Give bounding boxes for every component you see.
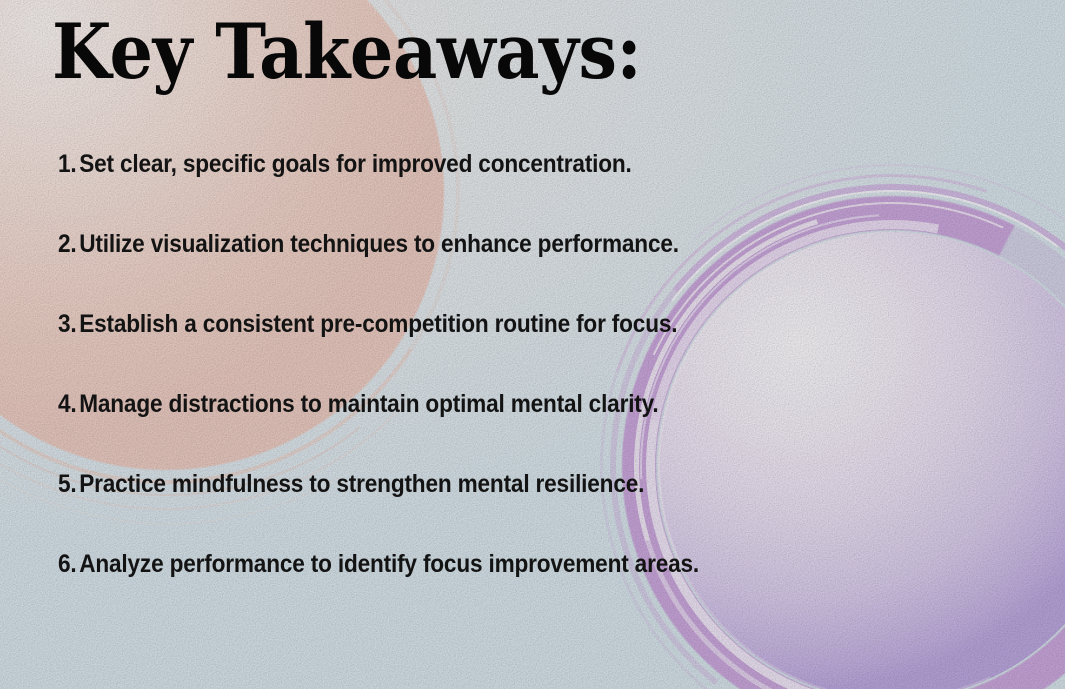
- list-item-number: 1.: [58, 150, 77, 178]
- list-item: 3.Establish a consistent pre-competition…: [58, 312, 909, 392]
- slide-content: Key Takeaways: 1.Set clear, specific goa…: [0, 0, 1065, 689]
- takeaways-list: 1.Set clear, specific goals for improved…: [58, 152, 998, 632]
- list-item: 6.Analyze performance to identify focus …: [58, 552, 909, 632]
- list-item: 4.Manage distractions to maintain optima…: [58, 392, 909, 472]
- list-item-label: Practice mindfulness to strengthen menta…: [79, 470, 644, 498]
- list-item: 5.Practice mindfulness to strengthen men…: [58, 472, 909, 552]
- list-item-label: Manage distractions to maintain optimal …: [79, 390, 658, 418]
- list-item: 1.Set clear, specific goals for improved…: [58, 152, 909, 232]
- list-item-label: Set clear, specific goals for improved c…: [79, 150, 631, 178]
- list-item: 2.Utilize visualization techniques to en…: [58, 232, 909, 312]
- slide-canvas: Key Takeaways: 1.Set clear, specific goa…: [0, 0, 1065, 689]
- list-item-number: 3.: [58, 310, 77, 338]
- list-item-number: 2.: [58, 230, 77, 258]
- page-title: Key Takeaways:: [52, 14, 641, 90]
- list-item-label: Establish a consistent pre-competition r…: [79, 310, 677, 338]
- list-item-number: 5.: [58, 470, 77, 498]
- list-item-number: 6.: [58, 550, 77, 578]
- list-item-number: 4.: [58, 390, 77, 418]
- list-item-label: Analyze performance to identify focus im…: [79, 550, 699, 578]
- list-item-label: Utilize visualization techniques to enha…: [79, 230, 679, 258]
